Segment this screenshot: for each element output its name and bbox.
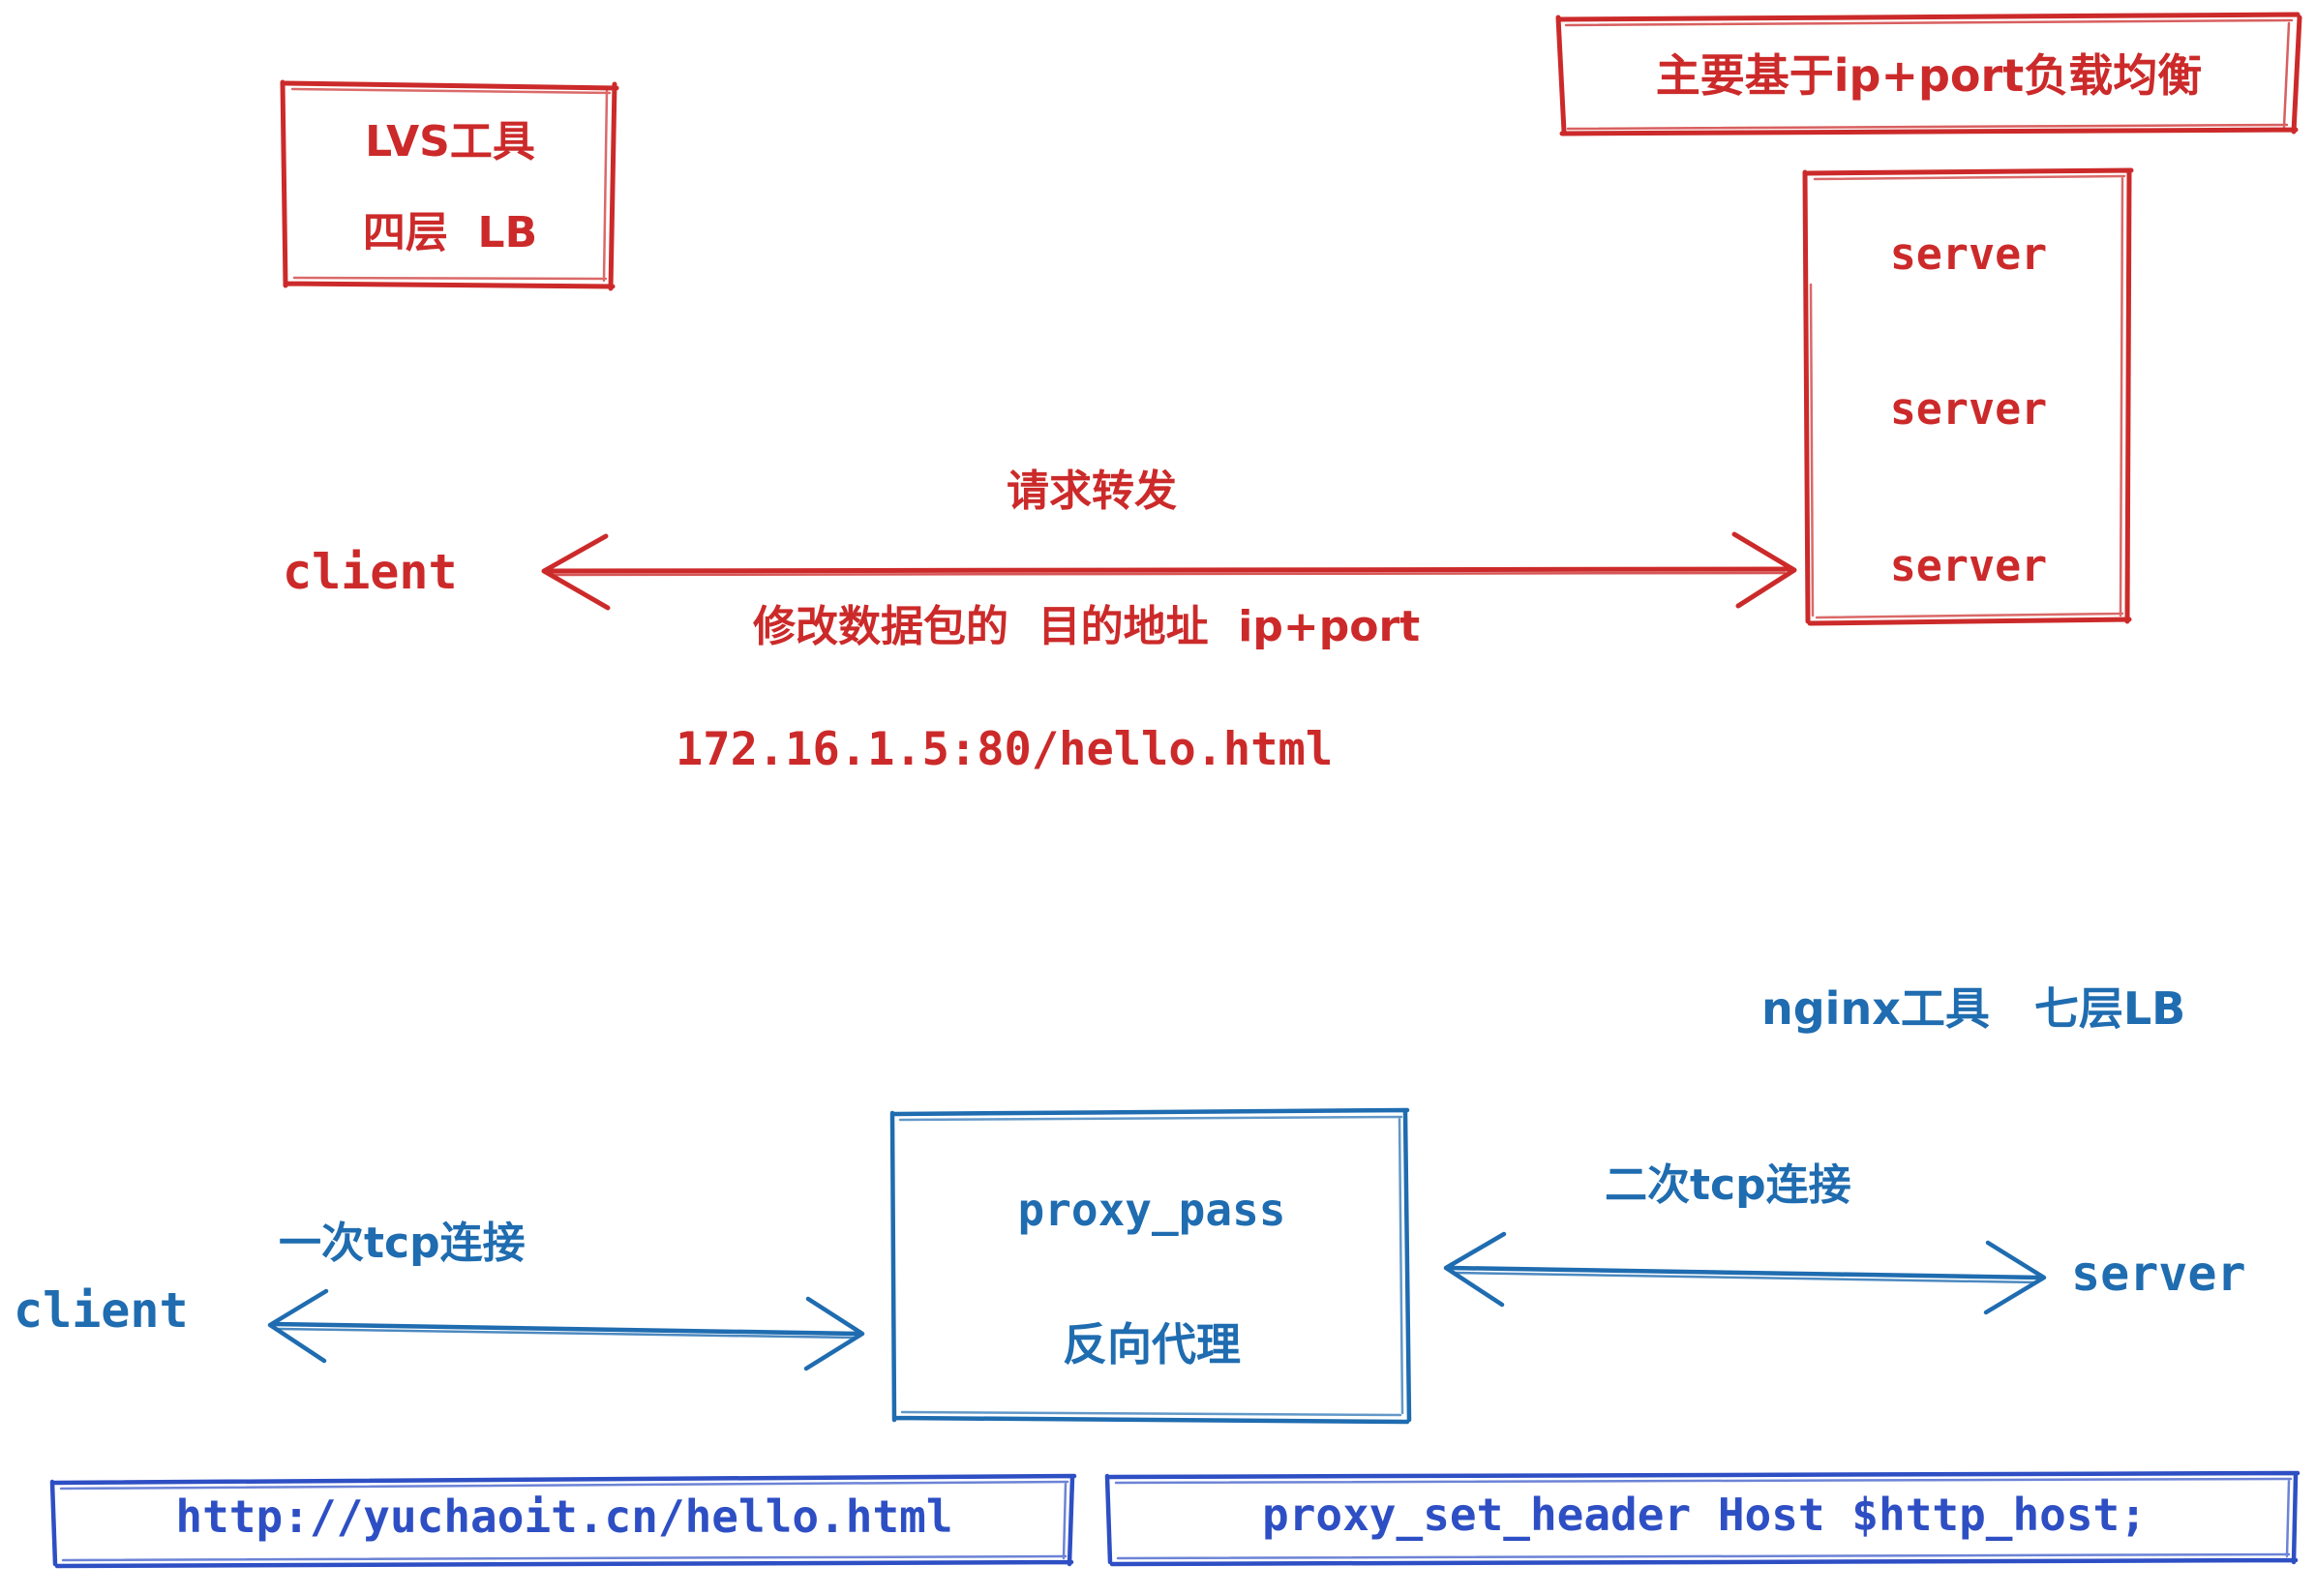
nginx-footer-header-text: proxy_set_header Host $http_host; bbox=[1105, 1489, 2303, 1541]
nginx-client-label: client bbox=[14, 1285, 189, 1337]
diagram-canvas: 主要基于ip+port负载均衡 LVS工具 四层 LB server serve… bbox=[0, 0, 2316, 1596]
nginx-proxy-line2: 反向代理 bbox=[890, 1310, 1413, 1373]
lvs-tool-line1: LVS工具 bbox=[281, 106, 619, 168]
lvs-note-text: 主要基于ip+port负载均衡 bbox=[1556, 41, 2301, 105]
nginx-footer-url-text: http://yuchaoit.cn/hello.html bbox=[50, 1491, 1078, 1543]
nginx-footer-box-url: http://yuchaoit.cn/hello.html bbox=[50, 1473, 1078, 1568]
nginx-proxy-box: proxy_pass 反向代理 bbox=[890, 1108, 1413, 1426]
lvs-server-entry-1: server bbox=[1802, 228, 2135, 280]
nginx-server-label: server bbox=[2071, 1249, 2246, 1300]
nginx-right-arrow-label: 二次tcp连接 bbox=[1605, 1163, 1851, 1208]
lvs-tool-box: LVS工具 四层 LB bbox=[281, 79, 619, 292]
lvs-server-entry-2: server bbox=[1802, 383, 2135, 435]
nginx-right-arrow bbox=[1430, 1221, 2060, 1318]
nginx-left-arrow-label: 一次tcp连接 bbox=[279, 1221, 526, 1266]
lvs-server-box: server server server bbox=[1802, 168, 2135, 625]
lvs-arrow-label-above: 请求转发 bbox=[1007, 469, 1177, 514]
nginx-heading: nginx工具 七层LB bbox=[1761, 985, 2185, 1032]
lvs-server-entry-3: server bbox=[1802, 540, 2135, 591]
lvs-url-label: 172.16.1.5:80/hello.html bbox=[676, 726, 1333, 773]
lvs-tool-line2: 四层 LB bbox=[281, 197, 619, 259]
nginx-proxy-line1: proxy_pass bbox=[890, 1184, 1413, 1236]
nginx-left-arrow bbox=[256, 1278, 876, 1374]
nginx-footer-box-header: proxy_set_header Host $http_host; bbox=[1105, 1469, 2303, 1566]
lvs-client-label: client bbox=[283, 547, 458, 598]
lvs-note-box: 主要基于ip+port负载均衡 bbox=[1556, 12, 2301, 136]
lvs-arrow-label-below: 修改数据包的 目的地址 ip+port bbox=[753, 605, 1420, 649]
